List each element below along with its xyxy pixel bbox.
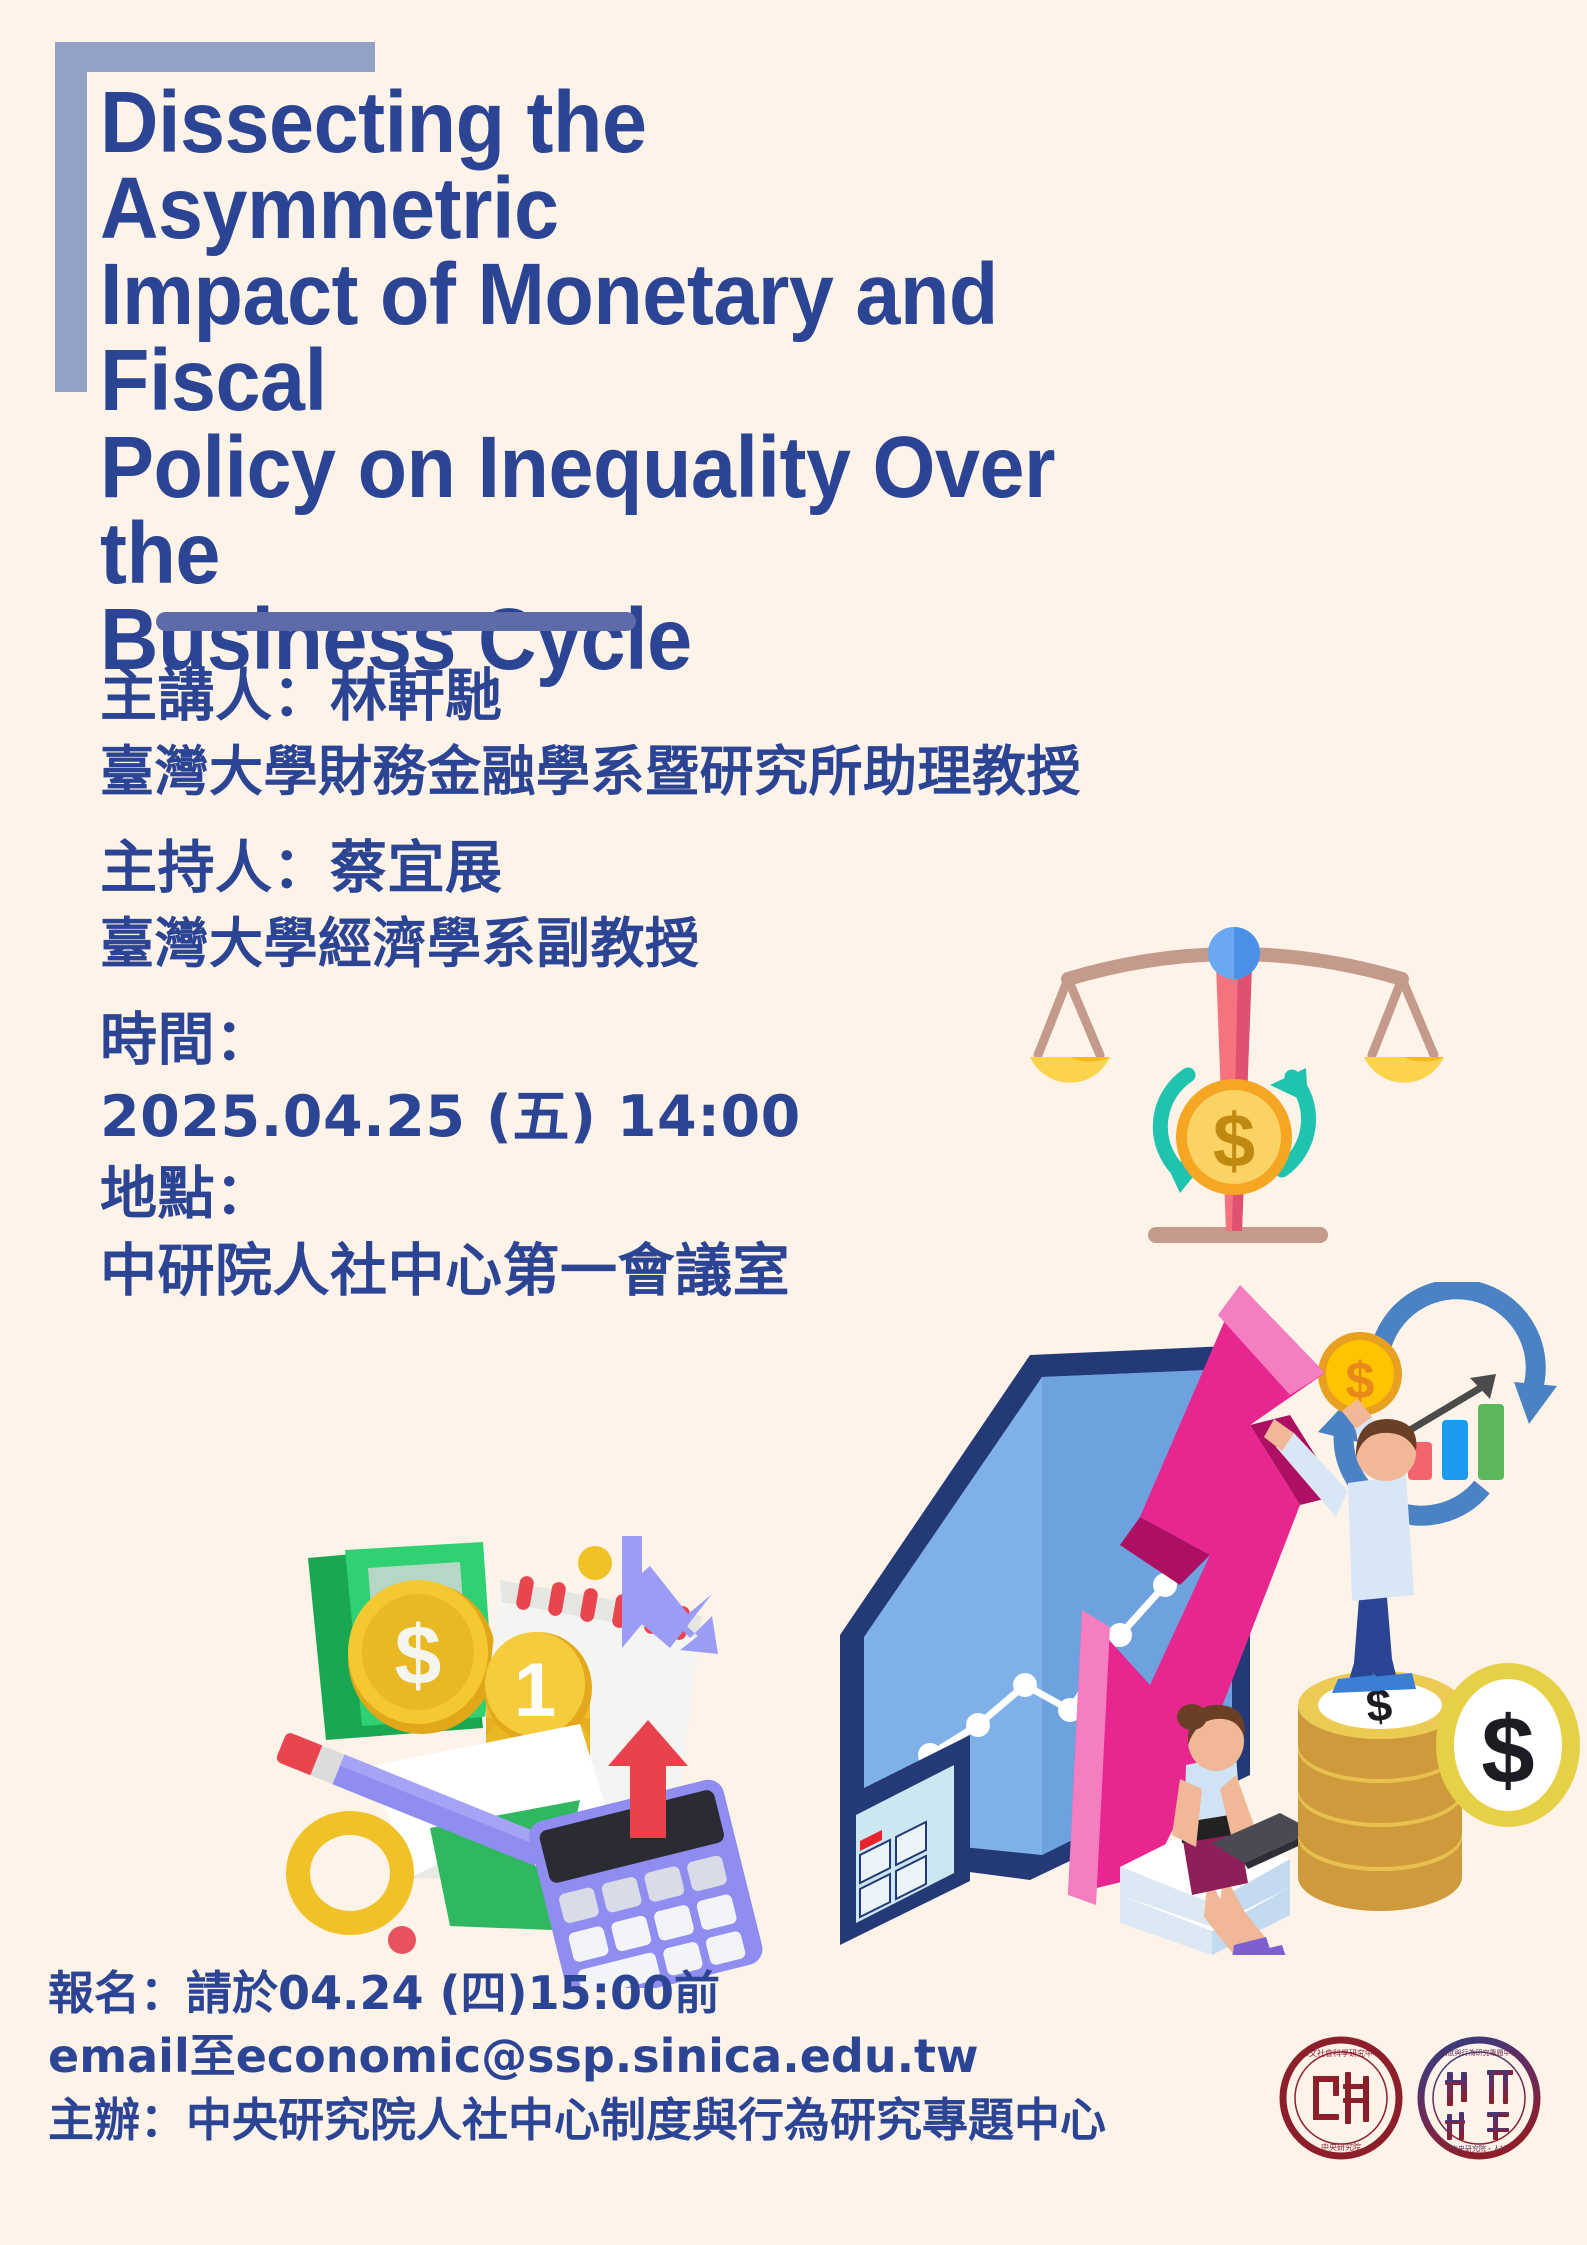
time-label: 時間： (100, 1004, 1160, 1077)
poster-canvas: Dissecting the Asymmetric Impact of Mone… (0, 0, 1587, 2245)
event-details: 主講人：林軒馳 臺灣大學財務金融學系暨研究所助理教授 主持人：蔡宜展 臺灣大學經… (100, 660, 1160, 1308)
footer-block: 報名：請於04.24 (四)15:00前 email至economic@ssp.… (48, 1962, 1278, 2152)
svg-text:$: $ (395, 1608, 442, 1702)
ibs-seal-logo: 制度與行為研究專題中心 中央研究院・人社 (1415, 2034, 1543, 2162)
poster-title: Dissecting the Asymmetric Impact of Mone… (100, 80, 1086, 683)
money-stationery-cluster-illustration: $ 1 (250, 1528, 780, 1988)
organizer-logos: 人文社會科學研究中心 中央研究院 (1277, 2034, 1562, 2194)
svg-text:中央研究院: 中央研究院 (1321, 2142, 1361, 2152)
svg-text:人文社會科學研究中心: 人文社會科學研究中心 (1301, 2048, 1381, 2058)
email-line[interactable]: email至economic@ssp.sinica.edu.tw (48, 2025, 1278, 2088)
place-label: 地點： (100, 1158, 1160, 1231)
balance-scale-illustration: $ (1020, 905, 1450, 1265)
svg-text:$: $ (1213, 1099, 1255, 1184)
svg-text:中央研究院・人社: 中央研究院・人社 (1451, 2144, 1507, 2153)
svg-text:1: 1 (514, 1648, 556, 1733)
host-affiliation-line: 臺灣大學經濟學系副教授 (100, 909, 1160, 978)
host-name-line: 主持人：蔡宜展 (100, 832, 1160, 905)
speaker-affiliation-line: 臺灣大學財務金融學系暨研究所助理教授 (100, 737, 1160, 806)
registration-line: 報名：請於04.24 (四)15:00前 (48, 1962, 1278, 2025)
isometric-growth-illustration: $ $ (820, 1255, 1580, 1955)
bracket-horizontal-bar (55, 42, 375, 72)
title-block: Dissecting the Asymmetric Impact of Mone… (100, 80, 1160, 683)
svg-text:制度與行為研究專題中心: 制度與行為研究專題中心 (1441, 2048, 1518, 2057)
organizer-line: 主辦：中央研究院人社中心制度與行為研究專題中心 (48, 2089, 1278, 2152)
speaker-name-line: 主講人：林軒馳 (100, 660, 1160, 733)
bracket-vertical-bar (55, 42, 87, 392)
rssh-seal-logo: 人文社會科學研究中心 中央研究院 (1277, 2034, 1405, 2162)
title-divider (156, 612, 636, 631)
svg-text:$: $ (1481, 1697, 1534, 1804)
time-value: 2025.04.25 (五) 14:00 (100, 1081, 1160, 1154)
